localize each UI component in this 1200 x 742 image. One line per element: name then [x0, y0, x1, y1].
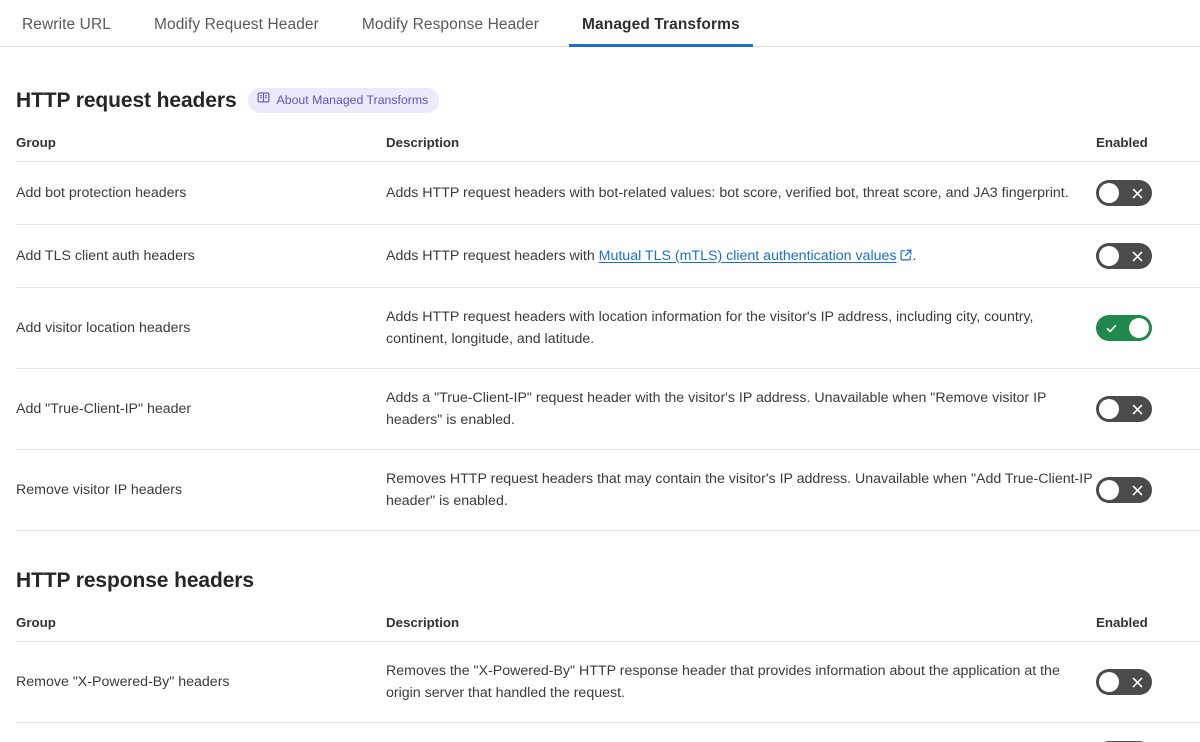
table-body: Remove "X-Powered-By" headers Removes th…	[16, 642, 1200, 742]
row-enabled-cell	[1096, 225, 1200, 288]
column-header-description: Description	[386, 135, 1096, 162]
table-row: Add security headers Adds several securi…	[16, 723, 1200, 742]
managed-transforms-page: Rewrite URL Modify Request Header Modify…	[0, 0, 1200, 742]
check-icon	[1096, 315, 1126, 341]
tab-rewrite-url[interactable]: Rewrite URL	[22, 17, 111, 47]
http-request-headers-section: HTTP request headers About Managed Trans…	[0, 88, 1200, 531]
row-enabled-cell	[1096, 369, 1200, 450]
request-headers-table: Group Description Enabled Add bot protec…	[16, 135, 1200, 531]
spacer	[16, 113, 1184, 135]
spacer	[16, 593, 1184, 615]
table-head: Group Description Enabled	[16, 615, 1200, 642]
toggle-remove-visitor-ip-headers[interactable]	[1096, 477, 1152, 503]
tab-modify-response-header[interactable]: Modify Response Header	[362, 17, 539, 47]
column-header-group: Group	[16, 615, 386, 642]
row-enabled-cell	[1096, 288, 1200, 369]
spacer	[0, 47, 1200, 88]
table-body: Add bot protection headers Adds HTTP req…	[16, 162, 1200, 531]
toggle-knob	[1099, 246, 1119, 266]
row-description: Adds a "True-Client-IP" request header w…	[386, 369, 1096, 450]
description-suffix: .	[912, 248, 916, 264]
response-section-title: HTTP response headers	[16, 569, 254, 593]
toggle-add-visitor-location-headers[interactable]	[1096, 315, 1152, 341]
toggle-knob	[1099, 672, 1119, 692]
external-link-icon[interactable]	[900, 246, 912, 268]
toggle-knob	[1099, 480, 1119, 500]
table-header-row: Group Description Enabled	[16, 615, 1200, 642]
toggle-add-tls-client-auth-headers[interactable]	[1096, 243, 1152, 269]
tab-managed-transforms[interactable]: Managed Transforms	[582, 17, 740, 47]
http-response-headers-section: HTTP response headers Group Description …	[0, 569, 1200, 742]
row-description: Removes HTTP request headers that may co…	[386, 450, 1096, 531]
row-description: Adds HTTP request headers with bot-relat…	[386, 162, 1096, 225]
row-group-name: Add visitor location headers	[16, 288, 386, 369]
close-icon	[1122, 243, 1152, 269]
toggle-knob	[1129, 318, 1149, 338]
table-row: Add TLS client auth headers Adds HTTP re…	[16, 225, 1200, 288]
toggle-add-bot-protection-headers[interactable]	[1096, 180, 1152, 206]
close-icon	[1122, 180, 1152, 206]
row-enabled-cell	[1096, 450, 1200, 531]
tab-label: Rewrite URL	[22, 16, 111, 33]
row-group-name: Remove "X-Powered-By" headers	[16, 642, 386, 723]
row-enabled-cell	[1096, 642, 1200, 723]
toggle-remove-x-powered-by-headers[interactable]	[1096, 669, 1152, 695]
table-row: Add "True-Client-IP" header Adds a "True…	[16, 369, 1200, 450]
row-description: Adds HTTP request headers with location …	[386, 288, 1096, 369]
table-row: Remove visitor IP headers Removes HTTP r…	[16, 450, 1200, 531]
tab-label: Managed Transforms	[582, 16, 740, 33]
table-head: Group Description Enabled	[16, 135, 1200, 162]
row-group-name: Add security headers	[16, 723, 386, 742]
table-row: Add visitor location headers Adds HTTP r…	[16, 288, 1200, 369]
row-enabled-cell	[1096, 162, 1200, 225]
column-header-group: Group	[16, 135, 386, 162]
tab-bar: Rewrite URL Modify Request Header Modify…	[0, 0, 1200, 47]
close-icon	[1122, 669, 1152, 695]
about-managed-transforms-badge[interactable]: About Managed Transforms	[248, 88, 440, 113]
column-header-enabled: Enabled	[1096, 135, 1200, 162]
row-group-name: Remove visitor IP headers	[16, 450, 386, 531]
tab-label: Modify Request Header	[154, 16, 319, 33]
response-section-header: HTTP response headers	[16, 569, 1184, 593]
table-row: Add bot protection headers Adds HTTP req…	[16, 162, 1200, 225]
request-section-header: HTTP request headers About Managed Trans…	[16, 88, 1184, 113]
mtls-documentation-link[interactable]: Mutual TLS (mTLS) client authentication …	[599, 248, 897, 264]
toggle-add-true-client-ip-header[interactable]	[1096, 396, 1152, 422]
tab-modify-request-header[interactable]: Modify Request Header	[154, 17, 319, 47]
spacer	[0, 531, 1200, 569]
row-group-name: Add TLS client auth headers	[16, 225, 386, 288]
row-description: Adds HTTP request headers with Mutual TL…	[386, 225, 1096, 288]
response-headers-table: Group Description Enabled Remove "X-Powe…	[16, 615, 1200, 742]
description-prefix: Adds HTTP request headers with	[386, 248, 599, 264]
column-header-enabled: Enabled	[1096, 615, 1200, 642]
close-icon	[1122, 396, 1152, 422]
row-group-name: Add bot protection headers	[16, 162, 386, 225]
badge-label: About Managed Transforms	[277, 94, 429, 106]
row-description: Removes the "X-Powered-By" HTTP response…	[386, 642, 1096, 723]
column-header-description: Description	[386, 615, 1096, 642]
toggle-knob	[1099, 399, 1119, 419]
close-icon	[1122, 477, 1152, 503]
table-header-row: Group Description Enabled	[16, 135, 1200, 162]
row-enabled-cell	[1096, 723, 1200, 742]
row-description: Adds several security-related HTTP respo…	[386, 723, 1096, 742]
table-row: Remove "X-Powered-By" headers Removes th…	[16, 642, 1200, 723]
tab-label: Modify Response Header	[362, 16, 539, 33]
row-group-name: Add "True-Client-IP" header	[16, 369, 386, 450]
book-icon	[257, 91, 270, 109]
request-section-title: HTTP request headers	[16, 89, 237, 113]
toggle-knob	[1099, 183, 1119, 203]
